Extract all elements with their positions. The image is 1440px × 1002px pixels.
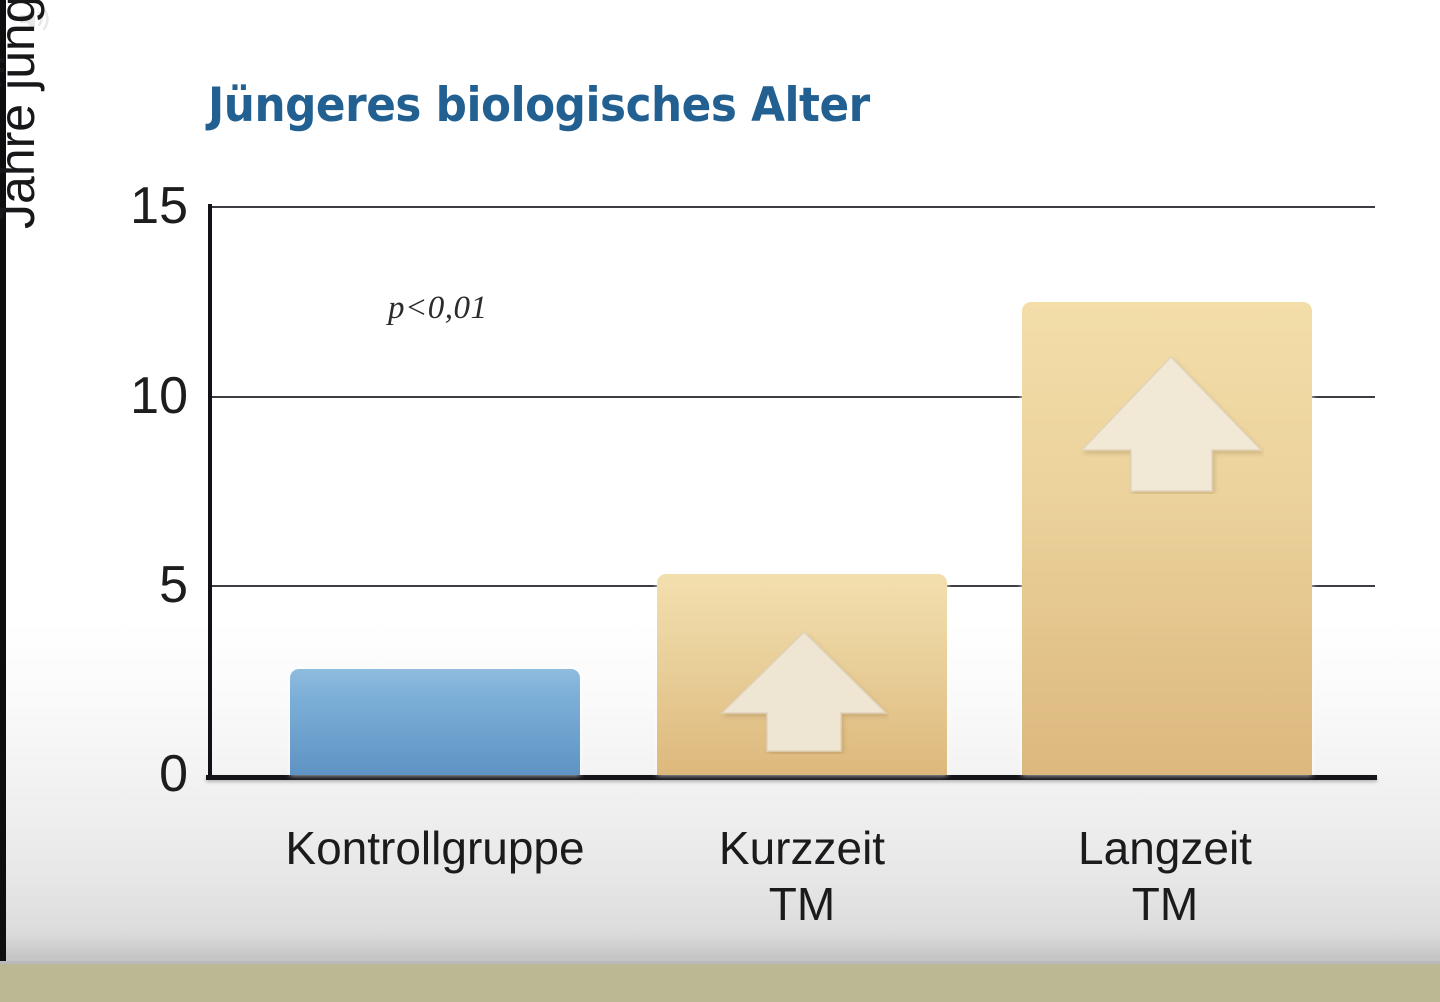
x-tick-label-kurzzeit-tm: Kurzzeit TM (607, 820, 997, 932)
p-value-annotation: p<0,01 (388, 290, 488, 327)
bar-langzeit-tm[interactable] (1022, 302, 1312, 775)
x-tick-label-kontrollgruppe: Kontrollgruppe (240, 820, 630, 876)
y-tick-label-10: 10 (78, 366, 188, 426)
up-arrow-icon (719, 629, 889, 754)
y-tick-label-5: 5 (78, 555, 188, 615)
y-axis-line (208, 204, 212, 779)
y-tick-label-15: 15 (78, 176, 188, 236)
chart-title: Jüngeres biologisches Alter (208, 78, 870, 133)
frame-bottom-strip (0, 964, 1440, 1002)
plot-area (208, 206, 1375, 775)
x-tick-label-langzeit-tm: Langzeit TM (970, 820, 1360, 932)
slide-canvas: Jüngeres biologisches Alter Jahre jünger… (0, 0, 1440, 1002)
bar-kurzzeit-tm[interactable] (657, 574, 947, 775)
y-tick-label-0: 0 (78, 744, 188, 804)
bar-kontrollgruppe[interactable] (290, 669, 580, 775)
gridline-15 (208, 206, 1375, 208)
y-axis-title: Jahre jünger (0, 0, 46, 300)
up-arrow-icon (1079, 354, 1264, 494)
x-axis-line (206, 775, 1377, 780)
